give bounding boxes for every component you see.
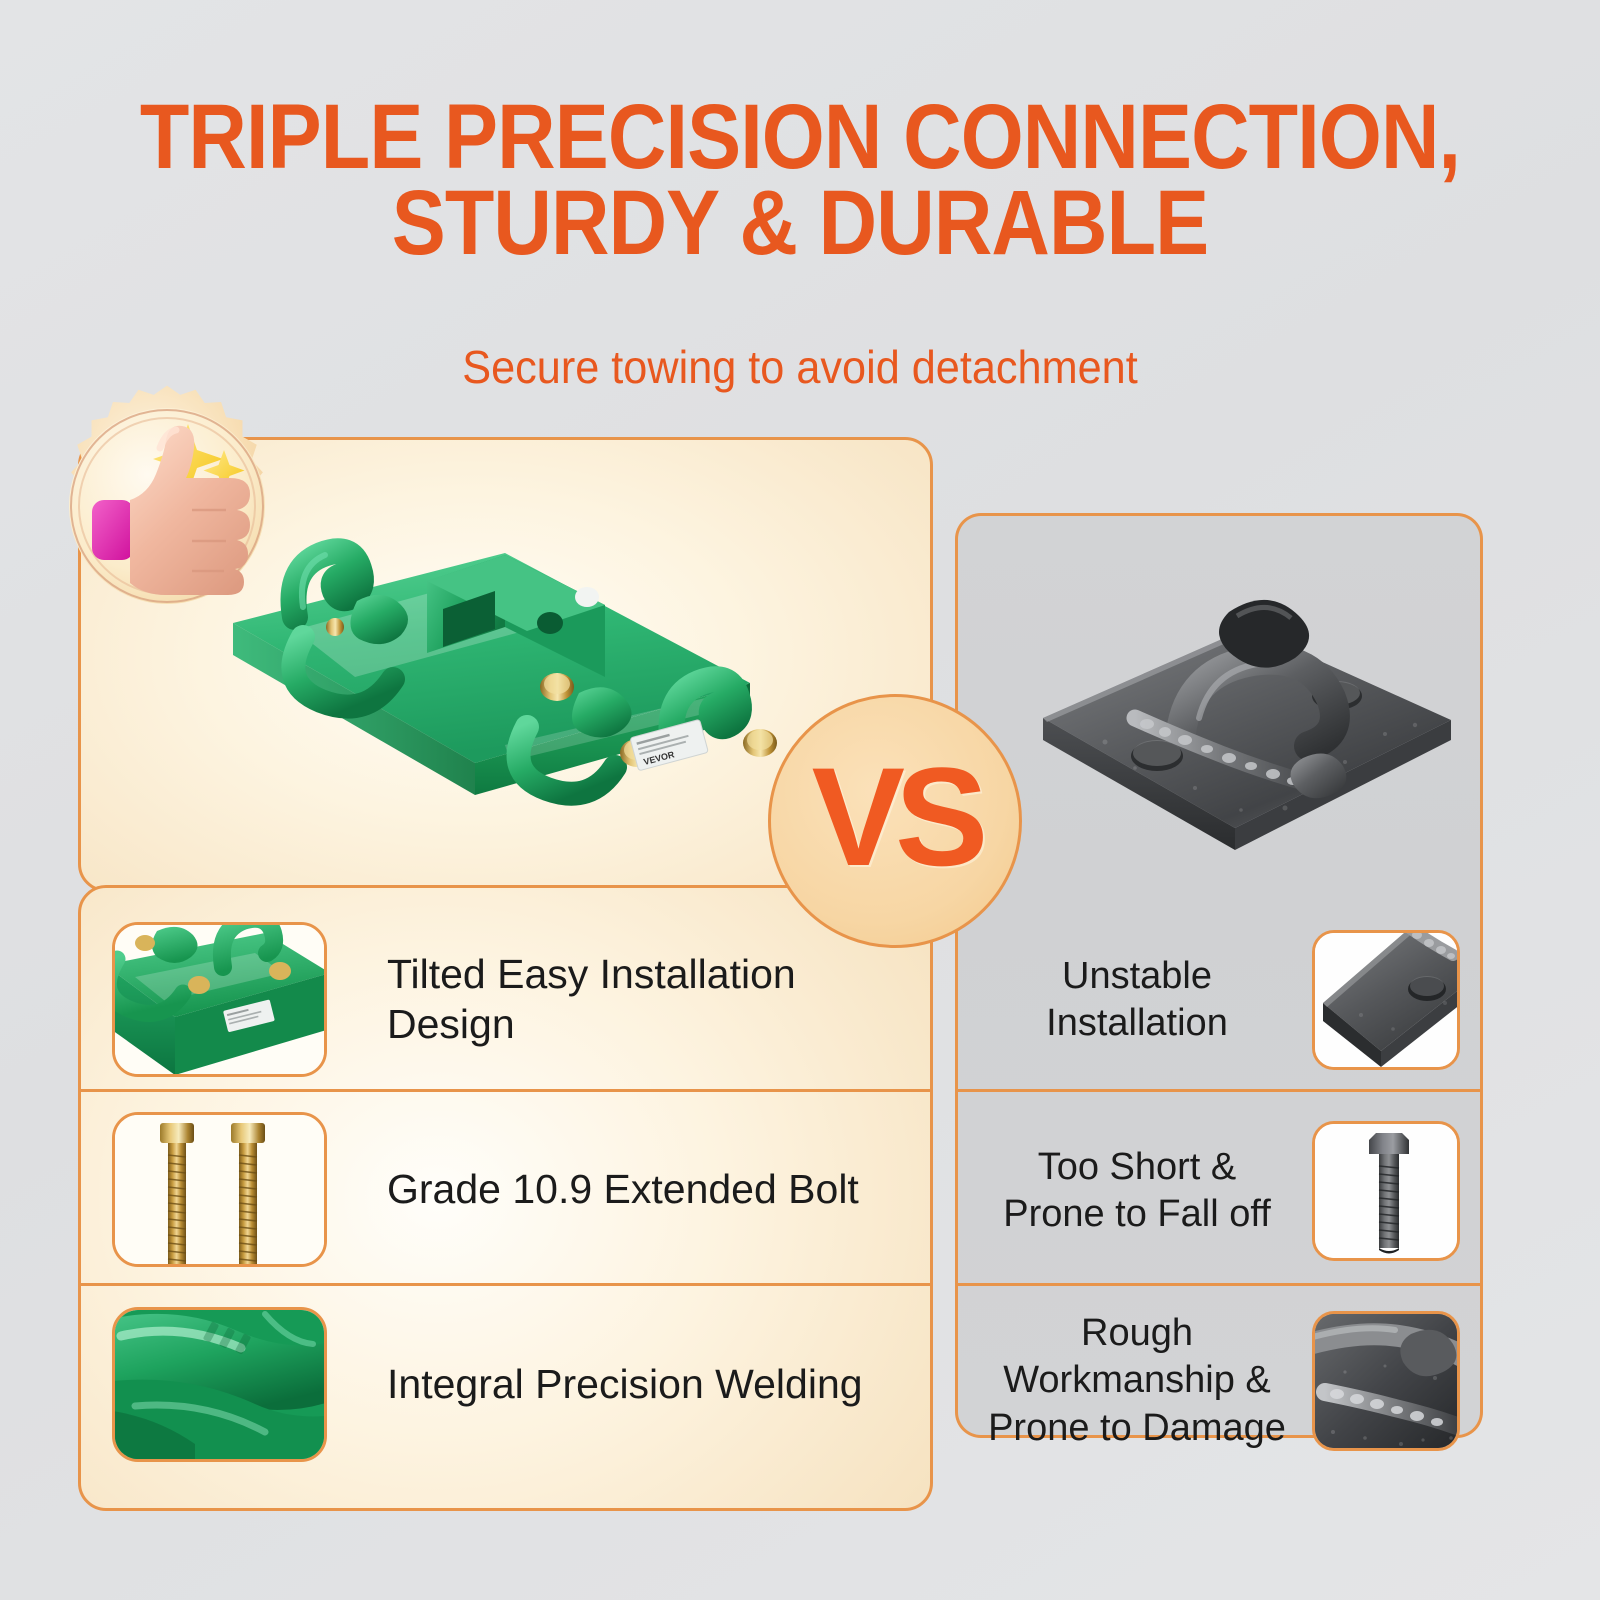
feature-row-right-1: Unstable Installation	[978, 920, 1460, 1080]
versus-label: VS	[812, 747, 979, 887]
versus-badge: VS	[768, 694, 1022, 948]
feature-label-left-3: Integral Precision Welding	[387, 1359, 912, 1409]
feature-row-right-3: Rough Workmanship & Prone to Damage	[978, 1300, 1460, 1462]
feature-label-right-3-line-1: Rough Workmanship &	[978, 1310, 1296, 1405]
feature-label-left-1: Tilted Easy Installation Design	[387, 949, 912, 1049]
feature-thumb-short-bolt	[1312, 1121, 1460, 1261]
feature-label-right-3: Rough Workmanship & Prone to Damage	[978, 1310, 1312, 1453]
feature-thumb-tilted-base	[112, 922, 327, 1077]
gold-hex-bolt-icon	[540, 673, 574, 701]
feature-row-left-2: Grade 10.9 Extended Bolt	[112, 1105, 912, 1273]
right-divider-1	[955, 1089, 1483, 1092]
feature-label-right-3-line-2: Prone to Damage	[978, 1405, 1296, 1453]
thumbs-up-badge-icon	[38, 382, 296, 632]
feature-thumb-bent-plate	[1312, 930, 1460, 1070]
feature-row-right-2: Too Short & Prone to Fall off	[978, 1110, 1460, 1272]
competitor-plate-illustration	[985, 520, 1475, 890]
feature-thumb-rough-weld	[1312, 1311, 1460, 1451]
page-title-line-2: STURDY & DURABLE	[96, 181, 1504, 267]
competitor-hero-image	[985, 520, 1475, 890]
feature-row-left-1: Tilted Easy Installation Design	[112, 915, 912, 1083]
feature-label-right-2-line-1: Too Short &	[978, 1144, 1296, 1192]
feature-thumb-extended-bolts	[112, 1112, 327, 1267]
feature-row-left-3: Integral Precision Welding	[112, 1300, 912, 1468]
feature-label-left-2: Grade 10.9 Extended Bolt	[387, 1164, 912, 1214]
left-divider-2	[78, 1283, 933, 1286]
feature-label-right-1: Unstable Installation	[978, 953, 1312, 1048]
right-divider-2	[955, 1283, 1483, 1286]
feature-thumb-precision-weld	[112, 1307, 327, 1462]
left-divider-1	[78, 1089, 933, 1092]
feature-label-right-2-line-2: Prone to Fall off	[978, 1191, 1296, 1239]
page-title: TRIPLE PRECISION CONNECTION, STURDY & DU…	[96, 95, 1504, 266]
feature-label-right-2: Too Short & Prone to Fall off	[978, 1144, 1312, 1239]
